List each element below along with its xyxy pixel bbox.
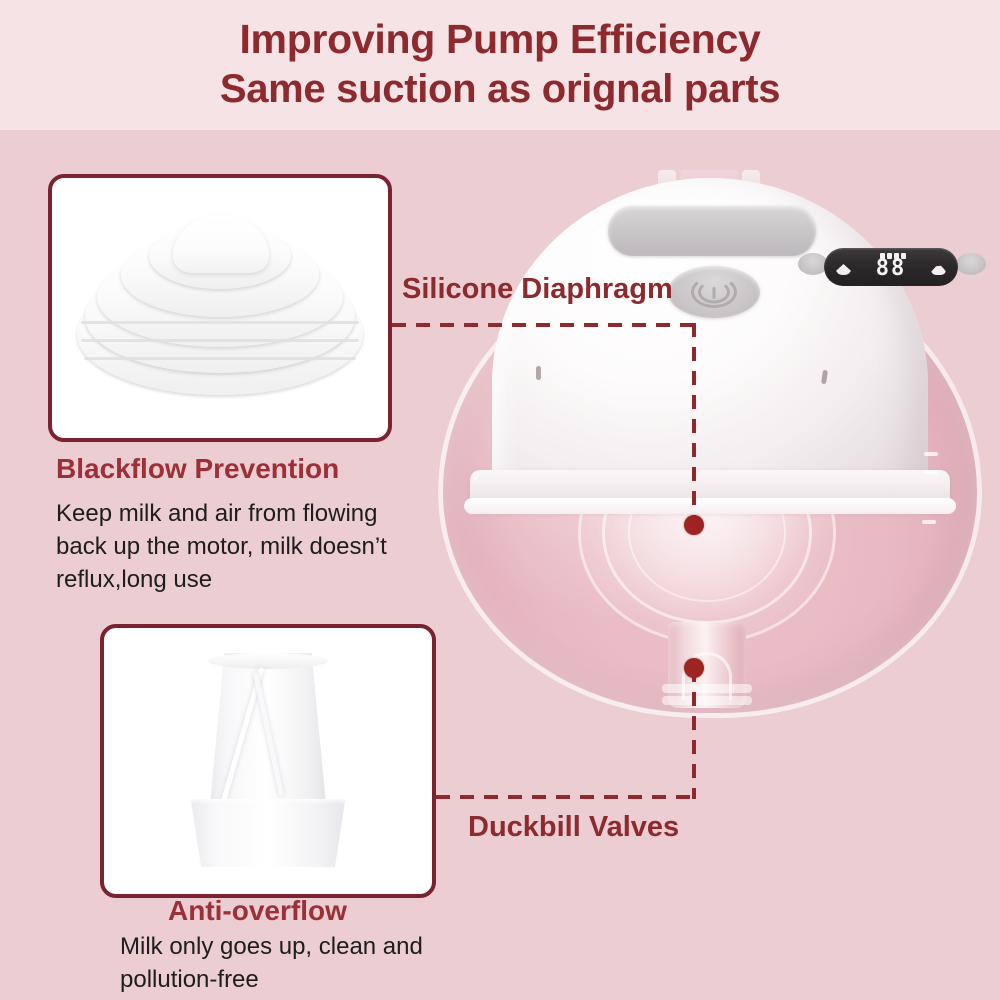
power-button[interactable]	[668, 266, 760, 318]
volume-tick-1	[924, 452, 938, 456]
headline-line-1: Improving Pump Efficiency	[0, 14, 1000, 64]
marker-dot-duckbill	[684, 658, 704, 678]
duckbill-valve-image	[170, 653, 366, 869]
dome-lip	[464, 498, 956, 514]
callout-label-duckbill-valves: Duckbill Valves	[468, 810, 679, 844]
volume-tick-3	[922, 520, 936, 524]
part-photo-card-diaphragm	[48, 174, 392, 442]
part-title-backflow-prevention: Blackflow Prevention	[56, 452, 339, 486]
duckbill-top-lip	[208, 653, 328, 669]
connector-duckbill-horizontal	[436, 795, 696, 799]
page-title: Improving Pump Efficiency Same suction a…	[0, 14, 1000, 114]
connector-diaphragm-horizontal	[392, 323, 698, 327]
part-body-backflow-prevention: Keep milk and air from flowing back up t…	[56, 497, 428, 596]
vent-left-icon	[536, 366, 541, 380]
breast-pump-illustration: 88	[430, 170, 990, 730]
power-stem-icon	[713, 287, 716, 299]
increase-button[interactable]	[956, 253, 986, 275]
part-body-anti-overflow: Milk only goes up, clean and pollution-f…	[120, 930, 500, 996]
diaphragm-groove-1	[81, 321, 359, 324]
control-panel: 88	[608, 206, 816, 256]
diaphragm-groove-2	[81, 339, 359, 342]
lcd-display: 88	[824, 248, 958, 286]
marker-dot-diaphragm	[684, 515, 704, 535]
part-title-anti-overflow: Anti-overflow	[168, 894, 347, 928]
duckbill-base	[180, 799, 356, 867]
silicone-diaphragm-image	[77, 215, 363, 401]
diaphragm-center-dome	[173, 215, 269, 273]
callout-label-silicone-diaphragm: Silicone Diaphragm	[402, 272, 673, 306]
headline-line-2: Same suction as orignal parts	[0, 64, 1000, 114]
product-infographic: Improving Pump Efficiency Same suction a…	[0, 0, 1000, 1000]
connector-diaphragm-vertical	[692, 323, 696, 525]
diaphragm-groove-3	[84, 357, 356, 360]
part-photo-card-duckbill	[100, 624, 436, 898]
connector-duckbill-vertical	[692, 668, 696, 799]
volume-tick-2	[924, 470, 938, 474]
